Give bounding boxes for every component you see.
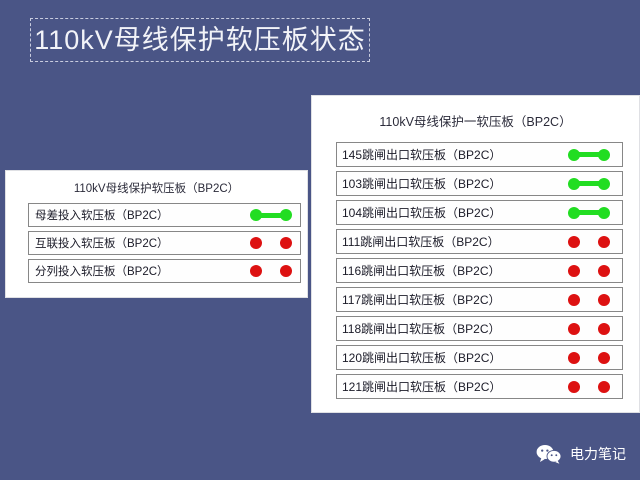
softplate-indicator-on[interactable] bbox=[568, 178, 610, 190]
softplate-indicator-off[interactable] bbox=[568, 294, 610, 306]
softplate-row-label: 116跳闸出口软压板（BP2C） bbox=[337, 262, 500, 279]
wechat-icon bbox=[536, 444, 562, 464]
toggle-disconnected-icon bbox=[568, 265, 610, 277]
softplate-indicator-off[interactable] bbox=[568, 265, 610, 277]
softplate-row-label: 104跳闸出口软压板（BP2C） bbox=[337, 204, 501, 221]
watermark: 电力笔记 bbox=[536, 444, 626, 464]
toggle-disconnected-icon bbox=[568, 352, 610, 364]
toggle-connected-icon bbox=[568, 149, 610, 161]
right-panel-title: 110kV母线保护一软压板（BP2C） bbox=[312, 111, 639, 130]
softplate-row[interactable]: 分列投入软压板（BP2C） bbox=[28, 259, 301, 283]
softplate-row[interactable]: 117跳闸出口软压板（BP2C） bbox=[336, 287, 623, 312]
softplate-row-label: 互联投入软压板（BP2C） bbox=[29, 235, 169, 251]
softplate-indicator-on[interactable] bbox=[568, 207, 610, 219]
toggle-disconnected-icon bbox=[568, 323, 610, 335]
softplate-indicator-off[interactable] bbox=[568, 236, 610, 248]
softplate-indicator-off[interactable] bbox=[250, 237, 292, 249]
left-panel-title: 110kV母线保护软压板（BP2C） bbox=[6, 180, 307, 196]
softplate-row-label: 120跳闸出口软压板（BP2C） bbox=[337, 349, 501, 366]
softplate-row-label: 103跳闸出口软压板（BP2C） bbox=[337, 175, 501, 192]
softplate-row[interactable]: 互联投入软压板（BP2C） bbox=[28, 231, 301, 255]
page-title-box: 110kV母线保护软压板状态 bbox=[30, 18, 370, 62]
softplate-row[interactable]: 103跳闸出口软压板（BP2C） bbox=[336, 171, 623, 196]
toggle-disconnected-icon bbox=[568, 381, 610, 393]
softplate-indicator-off[interactable] bbox=[568, 381, 610, 393]
toggle-connected-icon bbox=[568, 207, 610, 219]
softplate-row[interactable]: 111跳闸出口软压板（BP2C） bbox=[336, 229, 623, 254]
right-panel-bus-protection-1-softplate: 110kV母线保护一软压板（BP2C） 145跳闸出口软压板（BP2C）103跳… bbox=[311, 95, 640, 413]
softplate-row-label: 145跳闸出口软压板（BP2C） bbox=[337, 146, 501, 163]
softplate-indicator-off[interactable] bbox=[568, 323, 610, 335]
right-panel-row-list: 145跳闸出口软压板（BP2C）103跳闸出口软压板（BP2C）104跳闸出口软… bbox=[336, 142, 623, 399]
softplate-row-label: 118跳闸出口软压板（BP2C） bbox=[337, 320, 500, 337]
left-panel-bus-protection-softplate: 110kV母线保护软压板（BP2C） 母差投入软压板（BP2C）互联投入软压板（… bbox=[5, 170, 308, 298]
softplate-indicator-off[interactable] bbox=[568, 352, 610, 364]
toggle-disconnected-icon bbox=[250, 265, 292, 277]
left-panel-row-list: 母差投入软压板（BP2C）互联投入软压板（BP2C）分列投入软压板（BP2C） bbox=[28, 203, 301, 283]
toggle-disconnected-icon bbox=[250, 237, 292, 249]
softplate-row-label: 分列投入软压板（BP2C） bbox=[29, 263, 169, 279]
softplate-row-label: 117跳闸出口软压板（BP2C） bbox=[337, 291, 500, 308]
page-title: 110kV母线保护软压板状态 bbox=[34, 27, 366, 54]
softplate-indicator-on[interactable] bbox=[568, 149, 610, 161]
softplate-row-label: 111跳闸出口软压板（BP2C） bbox=[337, 233, 500, 250]
screen-root: 110kV母线保护软压板状态 110kV母线保护软压板（BP2C） 母差投入软压… bbox=[0, 0, 640, 480]
toggle-connected-icon bbox=[568, 178, 610, 190]
softplate-indicator-on[interactable] bbox=[250, 209, 292, 221]
softplate-row[interactable]: 120跳闸出口软压板（BP2C） bbox=[336, 345, 623, 370]
softplate-row-label: 母差投入软压板（BP2C） bbox=[29, 207, 169, 223]
toggle-disconnected-icon bbox=[568, 236, 610, 248]
softplate-row[interactable]: 121跳闸出口软压板（BP2C） bbox=[336, 374, 623, 399]
softplate-indicator-off[interactable] bbox=[250, 265, 292, 277]
toggle-connected-icon bbox=[250, 209, 292, 221]
toggle-disconnected-icon bbox=[568, 294, 610, 306]
softplate-row[interactable]: 104跳闸出口软压板（BP2C） bbox=[336, 200, 623, 225]
softplate-row[interactable]: 116跳闸出口软压板（BP2C） bbox=[336, 258, 623, 283]
softplate-row[interactable]: 母差投入软压板（BP2C） bbox=[28, 203, 301, 227]
watermark-label: 电力笔记 bbox=[570, 444, 626, 464]
softplate-row[interactable]: 145跳闸出口软压板（BP2C） bbox=[336, 142, 623, 167]
softplate-row[interactable]: 118跳闸出口软压板（BP2C） bbox=[336, 316, 623, 341]
softplate-row-label: 121跳闸出口软压板（BP2C） bbox=[337, 378, 501, 395]
